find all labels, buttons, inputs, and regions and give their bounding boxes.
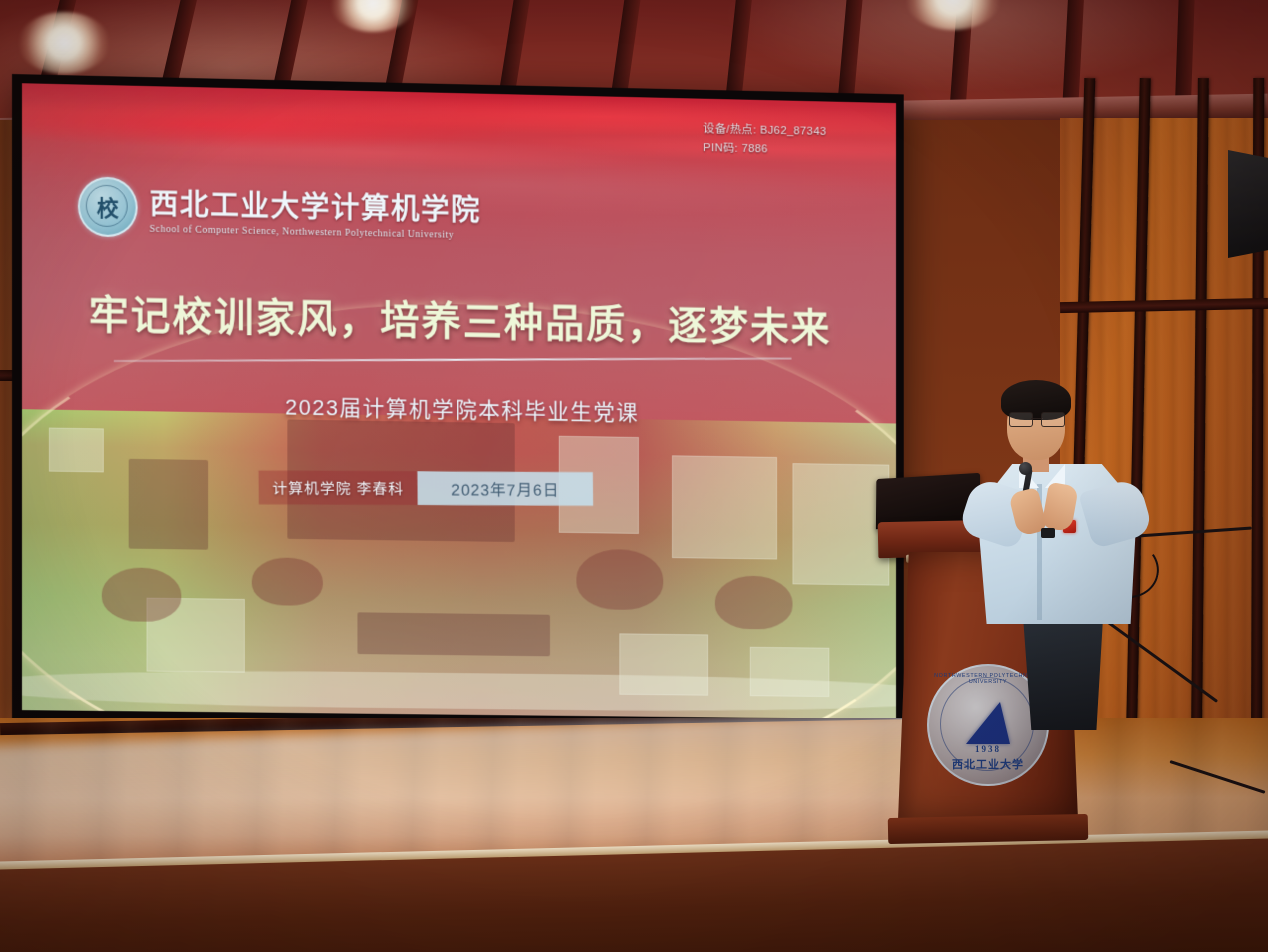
campus-building <box>672 456 778 560</box>
microphone-head-icon <box>1019 462 1032 475</box>
university-logo-lockup: 校 西北工业大学计算机学院 School of Computer Science… <box>78 176 481 244</box>
slide-date: 2023年7月6日 <box>418 471 593 505</box>
wall-batten-horizontal <box>1060 298 1268 313</box>
university-seal-icon: 校 <box>78 176 138 237</box>
person-trousers <box>1019 610 1107 730</box>
wifi-pin-label: PIN码: 7886 <box>703 139 826 160</box>
campus-building <box>49 428 104 473</box>
campus-building <box>128 459 208 550</box>
wall-batten <box>1190 78 1209 818</box>
campus-building <box>793 463 890 585</box>
wristwatch <box>1041 528 1055 538</box>
podium-base <box>888 814 1089 844</box>
slide-speaker-name: 计算机学院 李春科 <box>258 471 417 505</box>
eyeglass-lens-left <box>1009 412 1033 427</box>
campus-tree <box>715 575 793 629</box>
slide-campus-buildings <box>22 409 896 719</box>
emblem-year: 1938 <box>929 744 1047 754</box>
eyeglasses-icon <box>1009 412 1065 425</box>
eyeglass-lens-right <box>1041 412 1065 427</box>
logo-chinese-name: 西北工业大学计算机学院 <box>150 181 481 230</box>
slide-byline: 计算机学院 李春科 2023年7月6日 <box>258 471 592 506</box>
projection-screen-frame: 设备/热点: BJ62_87343 PIN码: 7886 校 西北工业大学计算机… <box>12 74 904 733</box>
campus-tree <box>252 557 322 606</box>
emblem-chinese-name: 西北工业大学 <box>929 756 1047 772</box>
campus-building <box>358 612 550 656</box>
emblem-arrow-icon <box>966 702 1010 744</box>
projector-wifi-info: 设备/热点: BJ62_87343 PIN码: 7886 <box>703 120 826 160</box>
campus-tree <box>576 549 663 610</box>
campus-tree <box>102 567 182 622</box>
logo-text-block: 西北工业大学计算机学院 School of Computer Science, … <box>150 181 481 241</box>
speaker-person <box>965 372 1155 662</box>
seal-glyph: 校 <box>80 178 136 235</box>
lecture-hall-scene: 设备/热点: BJ62_87343 PIN码: 7886 校 西北工业大学计算机… <box>0 0 1268 952</box>
wall-speaker-box <box>1228 150 1268 258</box>
projection-screen: 设备/热点: BJ62_87343 PIN码: 7886 校 西北工业大学计算机… <box>22 83 896 719</box>
ceiling-spotlight <box>18 12 110 74</box>
